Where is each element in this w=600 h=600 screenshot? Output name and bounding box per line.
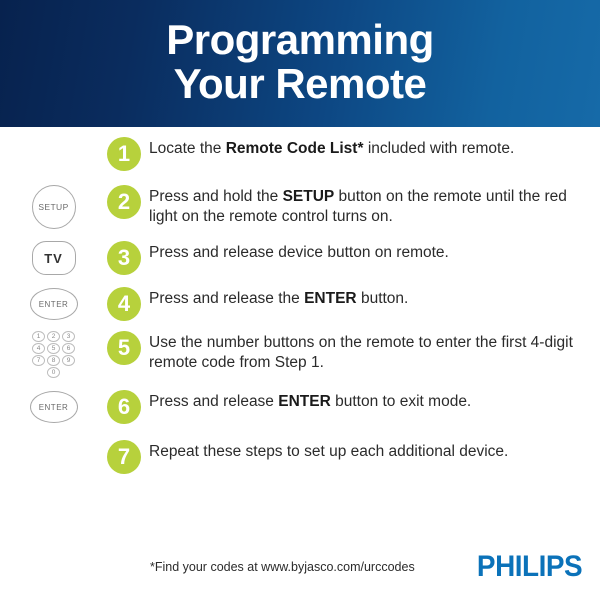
keypad-key-9: 9 <box>62 355 75 366</box>
keypad-key-6: 6 <box>62 343 75 354</box>
step-row-5: 12345678905Use the number buttons on the… <box>0 331 600 378</box>
keypad-key-4: 4 <box>32 343 45 354</box>
step-text: Repeat these steps to set up each additi… <box>149 440 600 462</box>
step-icon-slot <box>0 137 107 171</box>
step-text-emphasis: ENTER <box>304 290 357 307</box>
steps-list: 1Locate the Remote Code List* included w… <box>0 127 600 474</box>
step-text-fragment: Press and release the <box>149 290 304 307</box>
keypad-key-7: 7 <box>32 355 45 366</box>
step-text-fragment: button to exit mode. <box>331 393 471 410</box>
step-number-slot: 4 <box>107 287 149 321</box>
step-row-7: 7Repeat these steps to set up each addit… <box>0 440 600 474</box>
step-icon-slot: TV <box>0 241 107 275</box>
page-title-line-2: Your Remote <box>174 63 427 104</box>
step-text-emphasis: Remote Code List* <box>226 140 364 157</box>
keypad-key-8: 8 <box>47 355 60 366</box>
keypad-key-2: 2 <box>47 331 60 342</box>
tv-button-icon: TV <box>32 241 76 275</box>
page-header: Programming Your Remote <box>0 0 600 127</box>
step-text-emphasis: ENTER <box>278 393 331 410</box>
step-number-slot: 1 <box>107 137 149 171</box>
step-text: Locate the Remote Code List* included wi… <box>149 137 600 159</box>
step-number-badge: 4 <box>107 287 141 321</box>
step-number-badge: 3 <box>107 241 141 275</box>
enter-button-icon: ENTER <box>30 288 78 320</box>
step-number-badge: 6 <box>107 390 141 424</box>
page-title-line-1: Programming <box>166 19 434 60</box>
step-text-fragment: button. <box>357 290 409 307</box>
step-text-fragment: Press and release <box>149 393 278 410</box>
step-number-slot: 2 <box>107 185 149 219</box>
keypad-row: 0 <box>47 367 60 378</box>
step-icon-slot: 1234567890 <box>0 331 107 378</box>
step-number-slot: 3 <box>107 241 149 275</box>
keypad-key-0: 0 <box>47 367 60 378</box>
step-row-1: 1Locate the Remote Code List* included w… <box>0 137 600 171</box>
step-icon-slot: ENTER <box>0 390 107 424</box>
step-number-badge: 5 <box>107 331 141 365</box>
step-text-fragment: Press and release device button on remot… <box>149 244 449 261</box>
step-text-fragment: Repeat these steps to set up each additi… <box>149 443 508 460</box>
number-keypad-icon: 1234567890 <box>32 331 75 378</box>
enter-button-icon: ENTER <box>30 391 78 423</box>
step-icon-slot: ENTER <box>0 287 107 321</box>
footnote-text: *Find your codes at www.byjasco.com/urcc… <box>150 560 415 574</box>
step-row-6: ENTER6Press and release ENTER button to … <box>0 390 600 424</box>
step-row-3: TV3Press and release device button on re… <box>0 241 600 275</box>
step-number-badge: 1 <box>107 137 141 171</box>
step-number-badge: 2 <box>107 185 141 219</box>
step-number-slot: 7 <box>107 440 149 474</box>
step-icon-slot: SETUP <box>0 185 107 229</box>
step-text-fragment: Locate the <box>149 140 226 157</box>
keypad-key-1: 1 <box>32 331 45 342</box>
step-row-4: ENTER4Press and release the ENTER button… <box>0 287 600 321</box>
step-text-fragment: included with remote. <box>364 140 515 157</box>
step-text-fragment: Press and hold the <box>149 188 283 205</box>
step-row-2: SETUP2Press and hold the SETUP button on… <box>0 185 600 229</box>
keypad-row: 123 <box>32 331 75 342</box>
philips-logo: PHILIPS <box>477 550 582 584</box>
step-number-slot: 5 <box>107 331 149 365</box>
keypad-row: 789 <box>32 355 75 366</box>
step-text: Press and release the ENTER button. <box>149 287 600 309</box>
keypad-row: 456 <box>32 343 75 354</box>
step-number-badge: 7 <box>107 440 141 474</box>
step-text-emphasis: SETUP <box>283 188 335 205</box>
page-footer: *Find your codes at www.byjasco.com/urcc… <box>0 546 600 600</box>
step-text: Press and release ENTER button to exit m… <box>149 390 600 412</box>
step-text: Use the number buttons on the remote to … <box>149 331 600 374</box>
keypad-key-5: 5 <box>47 343 60 354</box>
step-icon-slot <box>0 440 107 474</box>
step-text-fragment: Use the number buttons on the remote to … <box>149 334 573 371</box>
step-number-slot: 6 <box>107 390 149 424</box>
step-text: Press and hold the SETUP button on the r… <box>149 185 600 228</box>
keypad-key-3: 3 <box>62 331 75 342</box>
setup-button-icon: SETUP <box>32 185 76 229</box>
step-text: Press and release device button on remot… <box>149 241 600 263</box>
